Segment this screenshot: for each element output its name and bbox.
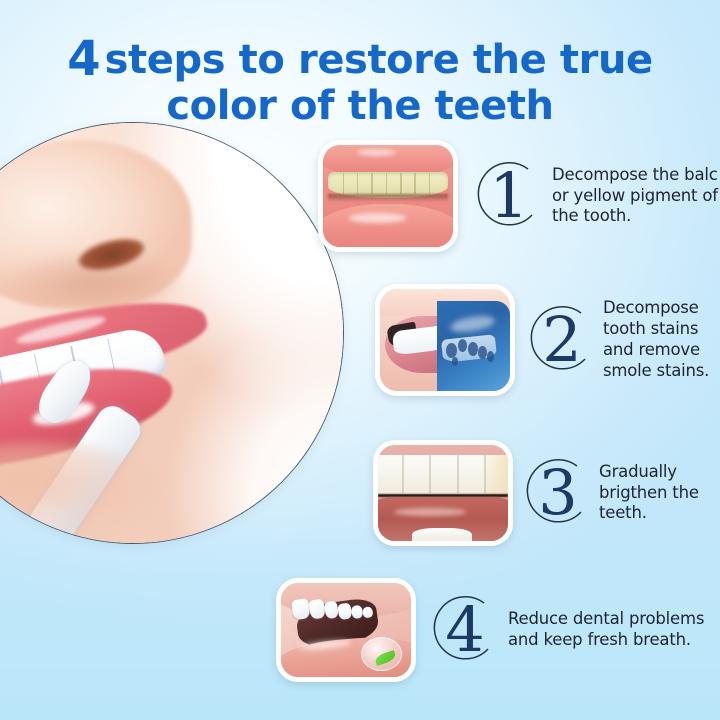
hero-image-circle (0, 122, 344, 544)
step-2-number-badge: 2 (529, 301, 595, 379)
step-3-number: 3 (538, 462, 577, 524)
headline-line-1-text: steps to restore the true (105, 37, 653, 83)
step-3-description: Gradually brigthen the teeth. (599, 462, 719, 524)
step-1-description: Decompose the balc or yellow pigment of … (552, 165, 720, 227)
brightened-teeth-image (378, 445, 508, 541)
step-2-thumbnail[interactable] (375, 284, 515, 396)
step-row-4: 4 Reduce dental problems and keep fresh … (276, 578, 720, 682)
headline-line-1: 4steps to restore the true (0, 34, 720, 85)
page-title: 4steps to restore the true color of the … (0, 34, 720, 127)
yellow-teeth-image (323, 145, 453, 247)
uv-light-treatment-image (380, 289, 510, 391)
step-2-number: 2 (542, 309, 581, 371)
step-4-number: 4 (445, 599, 484, 661)
step-1-thumbnail[interactable] (318, 140, 458, 252)
step-4-description: Reduce dental problems and keep fresh br… (508, 609, 720, 651)
step-row-2: 2 Decompose tooth stains and remove smol… (375, 284, 720, 396)
step-row-3: 3 Gradually brigthen the teeth. (373, 440, 719, 546)
fresh-breath-image (281, 583, 411, 677)
step-4-number-badge: 4 (432, 591, 498, 669)
step-1-number: 1 (489, 165, 528, 227)
hero-illustration (0, 123, 343, 543)
headline-line-2: color of the teeth (0, 85, 720, 127)
step-row-1: 1 Decompose the balc or yellow pigment o… (318, 140, 720, 252)
step-2-description: Decompose tooth stains and remove smole … (603, 298, 720, 381)
whitening-steps-poster: 4steps to restore the true color of the … (0, 0, 720, 720)
step-4-thumbnail[interactable] (276, 578, 416, 682)
step-3-number-badge: 3 (525, 454, 591, 532)
step-1-number-badge: 1 (476, 157, 542, 235)
step-3-thumbnail[interactable] (373, 440, 513, 546)
headline-step-count: 4 (67, 31, 100, 87)
